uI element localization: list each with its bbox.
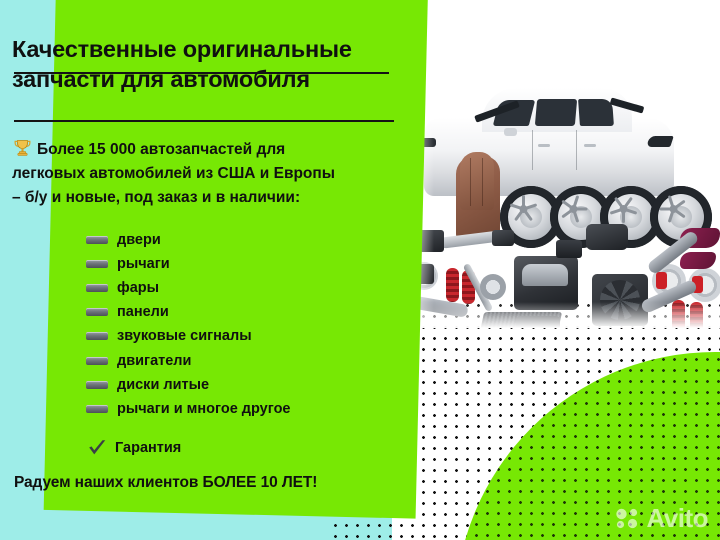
avito-brand-text: Avito bbox=[646, 505, 708, 531]
car-parts-photo bbox=[404, 78, 720, 328]
lead-paragraph: Более 15 000 автозапчастей для легковых … bbox=[12, 138, 412, 210]
lead-line-1: Более 15 000 автозапчастей для bbox=[12, 138, 412, 162]
plastic-cover-part bbox=[586, 224, 628, 250]
list-item: рычаги и многое другое bbox=[86, 397, 416, 421]
headline-divider-1 bbox=[14, 72, 389, 74]
car-headlight bbox=[646, 136, 674, 147]
dash-marker-icon bbox=[86, 308, 108, 316]
car-door-handle-1 bbox=[538, 144, 550, 147]
list-item-label: рычаги и многое другое bbox=[117, 401, 291, 417]
page-title: Качественные оригинальные запчасти для а… bbox=[12, 34, 412, 94]
seat-stitch-2 bbox=[482, 158, 483, 206]
list-item: двигатели bbox=[86, 348, 416, 372]
headline-divider-2 bbox=[14, 120, 394, 122]
car-door-line-2 bbox=[576, 130, 577, 170]
photo-bottom-fade bbox=[404, 302, 720, 328]
ad-content: Качественные оригинальные запчасти для а… bbox=[0, 0, 420, 540]
intake-manifold bbox=[522, 264, 568, 286]
car-door-handle-2 bbox=[584, 144, 596, 147]
tagline: Радуем наших клиентов БОЛЕЕ 10 ЛЕТ! bbox=[14, 474, 414, 492]
dash-marker-icon bbox=[86, 381, 108, 389]
check-mark-icon bbox=[86, 437, 108, 459]
list-item-label: двери bbox=[117, 232, 161, 248]
seat-stitch-1 bbox=[470, 158, 471, 206]
car-side-mirror bbox=[504, 128, 517, 136]
trophy-icon bbox=[12, 138, 33, 158]
parts-list: двери рычаги фары панели звуковые сигнал… bbox=[86, 228, 416, 421]
list-item-label: рычаги bbox=[117, 256, 170, 272]
tail-lamp-2 bbox=[680, 252, 716, 269]
guarantee-row: Гарантия bbox=[86, 437, 181, 459]
list-item: фары bbox=[86, 276, 416, 300]
list-item: звуковые сигналы bbox=[86, 324, 416, 348]
list-item: рычаги bbox=[86, 252, 416, 276]
car-window-rear bbox=[578, 99, 614, 126]
advertisement-banner: Качественные оригинальные запчасти для а… bbox=[0, 0, 720, 540]
list-item: двери bbox=[86, 228, 416, 252]
dash-marker-icon bbox=[86, 284, 108, 292]
battery bbox=[556, 240, 582, 258]
lead-line-3: – б/у и новые, под заказ и в наличии: bbox=[12, 186, 412, 210]
coil-spring-3 bbox=[446, 268, 459, 302]
dash-marker-icon bbox=[86, 260, 108, 268]
pulley-part bbox=[480, 274, 506, 300]
list-item-label: двигатели bbox=[117, 353, 191, 369]
list-item-label: звуковые сигналы bbox=[117, 328, 252, 344]
guarantee-label: Гарантия bbox=[115, 440, 181, 456]
list-item: панели bbox=[86, 300, 416, 324]
list-item-label: диски литые bbox=[117, 377, 209, 393]
headline-line-2: запчасти для автомобиля bbox=[12, 64, 412, 94]
dash-marker-icon bbox=[86, 357, 108, 365]
misc-part-2 bbox=[492, 230, 514, 246]
list-item-label: панели bbox=[117, 304, 169, 320]
leather-seat-back bbox=[460, 152, 494, 210]
car-door-line-1 bbox=[532, 130, 533, 170]
dash-marker-icon bbox=[86, 236, 108, 244]
avito-watermark: Avito bbox=[615, 505, 708, 531]
avito-logo-icon bbox=[615, 507, 641, 529]
lead-text-1: Более 15 000 автозапчастей для bbox=[37, 141, 285, 158]
dash-marker-icon bbox=[86, 405, 108, 413]
dash-marker-icon bbox=[86, 332, 108, 340]
brake-caliper-1 bbox=[656, 272, 667, 289]
list-item: диски литые bbox=[86, 373, 416, 397]
car-window-middle bbox=[535, 99, 577, 126]
lead-line-2: легковых автомобилей из США и Европы bbox=[12, 162, 412, 186]
headline-line-1: Качественные оригинальные bbox=[12, 34, 412, 64]
list-item-label: фары bbox=[117, 280, 159, 296]
